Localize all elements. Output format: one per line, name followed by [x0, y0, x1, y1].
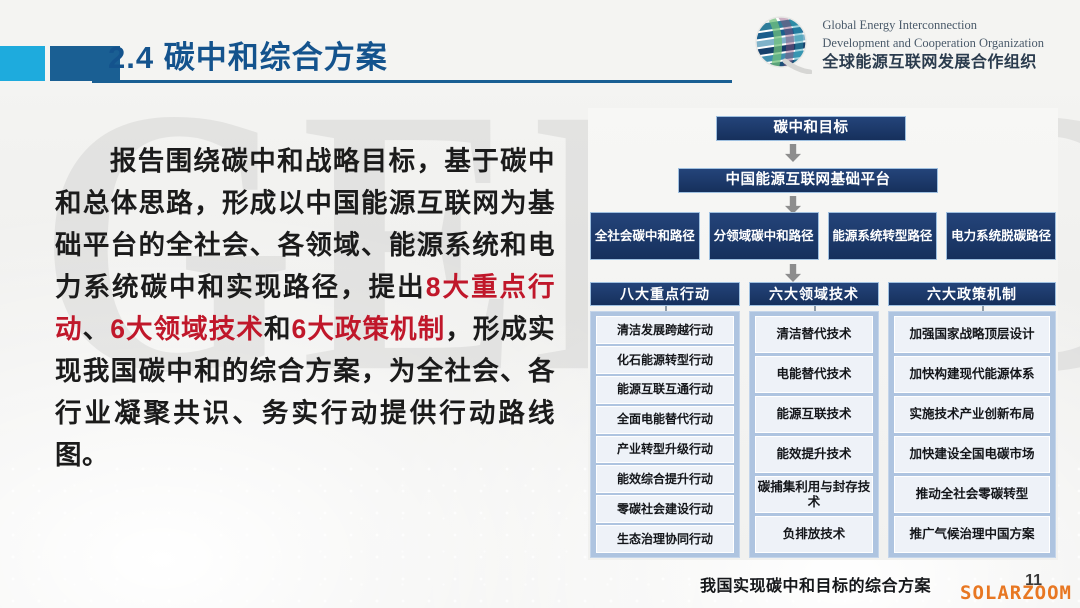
highlight-separator: 、 [83, 314, 111, 344]
path-box-sectors: 分领域碳中和路径 [709, 212, 819, 260]
column-header-technologies: 六大领域技术 [749, 282, 879, 306]
header-accent-cyan [0, 46, 45, 81]
slide: GEIDCO 2.4 碳中和综合方案 [0, 0, 1080, 608]
list-item: 清洁发展跨越行动 [596, 316, 734, 344]
logo-en-line2: Development and Cooperation Organization [822, 36, 1044, 50]
logo-en-line1: Global Energy Interconnection [822, 18, 977, 32]
column-body-technologies: 清洁替代技术 电能替代技术 能源互联技术 能效提升技术 碳捕集利用与封存技术 负… [749, 311, 879, 558]
logo-cn-name: 全球能源互联网发展合作组织 [822, 54, 1044, 72]
list-item: 推广气候治理中国方案 [894, 516, 1050, 553]
list-item: 加强国家战略顶层设计 [894, 316, 1050, 353]
list-item: 加快构建现代能源体系 [894, 356, 1050, 393]
header-rule [92, 80, 732, 83]
geidco-globe-icon [752, 14, 812, 74]
organization-logo: Global Energy Interconnection Developmen… [752, 14, 1044, 74]
column-body-policies: 加强国家战略顶层设计 加快构建现代能源体系 实施技术产业创新布局 加快建设全国电… [888, 311, 1056, 558]
node-carbon-neutral-goal: 碳中和目标 [716, 116, 906, 141]
slide-header: 2.4 碳中和综合方案 [0, 0, 1080, 96]
list-item: 生态治理协同行动 [596, 525, 734, 553]
path-box-energy-system: 能源系统转型路径 [828, 212, 938, 260]
column-header-actions: 八大重点行动 [590, 282, 740, 306]
node-energy-internet-platform: 中国能源互联网基础平台 [678, 168, 938, 193]
highlight-six-policies: 6大政策机制 [292, 314, 446, 344]
logo-text-block: Global Energy Interconnection Developmen… [822, 16, 1044, 72]
column-six-field-technologies: 六大领域技术 清洁替代技术 电能替代技术 能源互联技术 能效提升技术 碳捕集利用… [749, 282, 879, 558]
list-item: 能效提升技术 [755, 436, 873, 473]
list-item: 能源互联互通行动 [596, 376, 734, 404]
list-item: 负排放技术 [755, 516, 873, 553]
diagram-columns: 八大重点行动 清洁发展跨越行动 化石能源转型行动 能源互联互通行动 全面电能替代… [590, 282, 1056, 558]
list-item: 实施技术产业创新布局 [894, 396, 1050, 433]
page-title: 2.4 碳中和综合方案 [108, 32, 388, 77]
path-row: 全社会碳中和路径 分领域碳中和路径 能源系统转型路径 电力系统脱碳路径 [590, 212, 1056, 260]
path-box-power-system: 电力系统脱碳路径 [946, 212, 1056, 260]
path-box-society: 全社会碳中和路径 [590, 212, 700, 260]
list-item: 推动全社会零碳转型 [894, 476, 1050, 513]
list-item: 化石能源转型行动 [596, 346, 734, 374]
column-header-policies: 六大政策机制 [888, 282, 1056, 306]
body-paragraph: 报告围绕碳中和战略目标，基于碳中和总体思路，形成以中国能源互联网为基础平台的全社… [55, 140, 555, 476]
corner-watermark: SOLARZOOM [960, 582, 1072, 604]
comprehensive-plan-diagram: 碳中和目标 中国能源互联网基础平台 全社会碳中和路径 分领域碳中和路径 能源系统… [588, 108, 1058, 560]
list-item: 清洁替代技术 [755, 316, 873, 353]
list-item: 能效综合提升行动 [596, 465, 734, 493]
list-item: 全面电能替代行动 [596, 406, 734, 434]
list-item: 零碳社会建设行动 [596, 495, 734, 523]
list-item: 电能替代技术 [755, 356, 873, 393]
highlight-six-technologies: 6大领域技术 [110, 314, 264, 344]
list-item: 碳捕集利用与封存技术 [755, 476, 873, 513]
diagram-caption: 我国实现碳中和目标的综合方案 [700, 572, 931, 596]
column-body-actions: 清洁发展跨越行动 化石能源转型行动 能源互联互通行动 全面电能替代行动 产业转型… [590, 311, 740, 558]
list-item: 加快建设全国电碳市场 [894, 436, 1050, 473]
list-item: 能源互联技术 [755, 396, 873, 433]
paragraph-conjunction: 和 [264, 314, 292, 344]
column-six-policy-mechanisms: 六大政策机制 加强国家战略顶层设计 加快构建现代能源体系 实施技术产业创新布局 … [888, 282, 1056, 558]
column-eight-key-actions: 八大重点行动 清洁发展跨越行动 化石能源转型行动 能源互联互通行动 全面电能替代… [590, 282, 740, 558]
list-item: 产业转型升级行动 [596, 436, 734, 464]
